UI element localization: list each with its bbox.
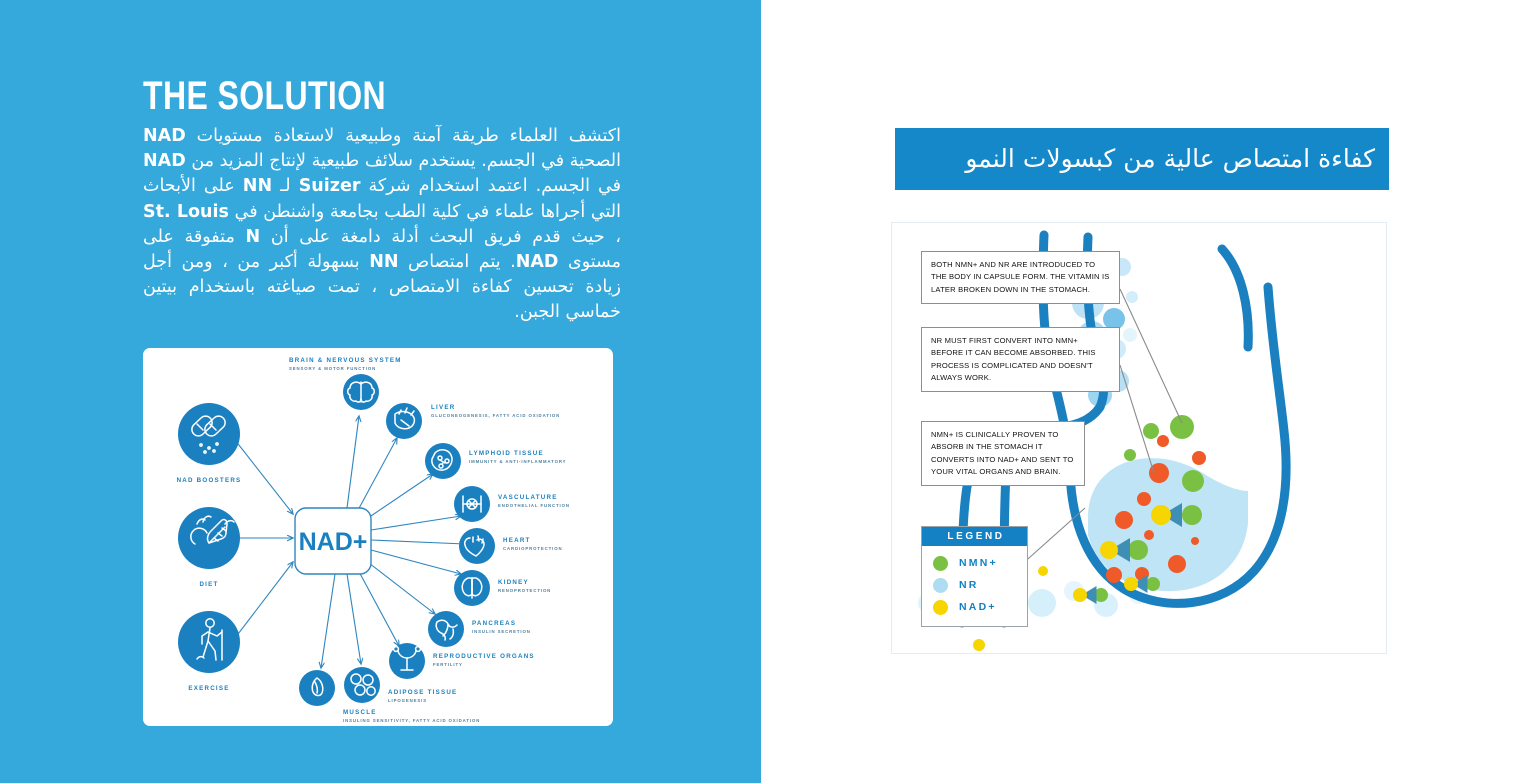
legend-rows: NMN+ NR NAD+ [922,546,1027,626]
organ-sub-5: RENOPROTECTION [498,588,551,593]
input-node-nad-boosters: NAD BOOSTERS [177,403,242,484]
left-blue-panel: THE SOLUTION اكتشف العلماء طريقة آمنة وط… [0,0,761,783]
absorption-banner: كفاءة امتصاص عالية من كبسولات النمو [895,128,1389,190]
organ-title-7: REPRODUCTIVE ORGANS [433,653,535,660]
organ-sub-0: SENSORY & MOTOR FUNCTION [289,366,376,371]
organ-sub-6: INSULIN SECRETION [472,629,531,634]
organ-sub-9: INSULING SENSITIVITY, FATTY ACID OXIDATI… [343,718,480,723]
legend-dot-nmn-icon [933,556,948,571]
organ-title-1: LIVER [431,404,455,411]
organ-title-6: PANCREAS [472,620,516,627]
organ-node-pancreas: PANCREAS INSULIN SECRETION [428,611,531,647]
organ-title-4: HEART [503,537,531,544]
legend-title: LEGEND [922,527,1027,546]
organ-title-2: LYMPHOID TISSUE [469,450,544,457]
organ-sub-3: ENDOTHELIAL FUNCTION [498,503,570,508]
legend-item-nr: NR [922,574,1027,596]
legend-item-nad: NAD+ [922,596,1027,618]
nad-diagram-card: .lbl { font-family:"Liberation Sans",san… [143,348,613,726]
organ-sub-1: GLUCONEOGENESIS, FATTY ACID OXIDATION [431,413,560,418]
organ-sub-8: LIPOGENESIS [388,698,427,703]
input-node-diet: DIET [178,507,240,588]
slide-root: THE SOLUTION اكتشف العلماء طريقة آمنة وط… [0,0,1520,783]
input-node-exercise: EXERCISE [178,611,240,692]
nad-diagram-svg: .lbl { font-family:"Liberation Sans",san… [143,348,613,726]
callout-box-2: NR MUST FIRST CONVERT INTO NMN+ BEFORE I… [921,327,1120,392]
nad-center-node: NAD+ [295,508,371,574]
solution-body-text: اكتشف العلماء طريقة آمنة وطبيعية لاستعاد… [143,124,621,326]
page-title: THE SOLUTION [143,76,386,116]
legend-box: LEGEND NMN+ NR NAD+ [921,526,1028,627]
organ-node-kidney: KIDNEY RENOPROTECTION [454,570,551,606]
input-label-0: NAD BOOSTERS [177,477,242,484]
legend-dot-nr-icon [933,578,948,593]
organ-title-0: BRAIN & NERVOUS SYSTEM [289,357,402,364]
callout-box-3: NMN+ IS CLINICALLY PROVEN TO ABSORB IN T… [921,421,1085,486]
organ-sub-2: IMMUNITY & ANTI-INFLAMMATORY [469,459,566,464]
organ-sub-7: FERTILITY [433,662,463,667]
organ-node-heart: HEART CARDIOPROTECTION [459,528,563,564]
input-connector-lines [235,440,293,638]
organ-node-vasculature: VASCULATURE ENDOTHELIAL FUNCTION [454,486,570,522]
organ-node-reproductive: REPRODUCTIVE ORGANS FERTILITY [389,643,535,679]
legend-item-nmn: NMN+ [922,552,1027,574]
organ-node-lymphoid: LYMPHOID TISSUE IMMUNITY & ANTI-INFLAMMA… [425,443,566,479]
legend-label-nmn: NMN+ [959,557,998,569]
legend-dot-nad-icon [933,600,948,615]
banner-title: كفاءة امتصاص عالية من كبسولات النمو [965,145,1375,173]
organ-node-muscle: MUSCLE INSULING SENSITIVITY, FATTY ACID … [299,670,480,723]
organ-title-5: KIDNEY [498,579,529,586]
organ-node-liver: LIVER GLUCONEOGENESIS, FATTY ACID OXIDAT… [386,403,560,439]
legend-label-nr: NR [959,579,979,591]
stomach-illustration-panel: BOTH NMN+ AND NR ARE INTRODUCED TO THE B… [891,222,1387,654]
organ-node-brain: BRAIN & NERVOUS SYSTEM SENSORY & MOTOR F… [289,357,402,410]
organ-title-9: MUSCLE [343,709,377,716]
organ-sub-4: CARDIOPROTECTION [503,546,563,551]
input-label-1: DIET [199,581,218,588]
legend-label-nad: NAD+ [959,601,997,613]
nad-center-label: NAD+ [299,528,368,556]
organ-title-3: VASCULATURE [498,494,558,501]
organ-title-8: ADIPOSE TISSUE [388,689,457,696]
callout-box-1: BOTH NMN+ AND NR ARE INTRODUCED TO THE B… [921,251,1120,304]
input-label-2: EXERCISE [188,685,229,692]
